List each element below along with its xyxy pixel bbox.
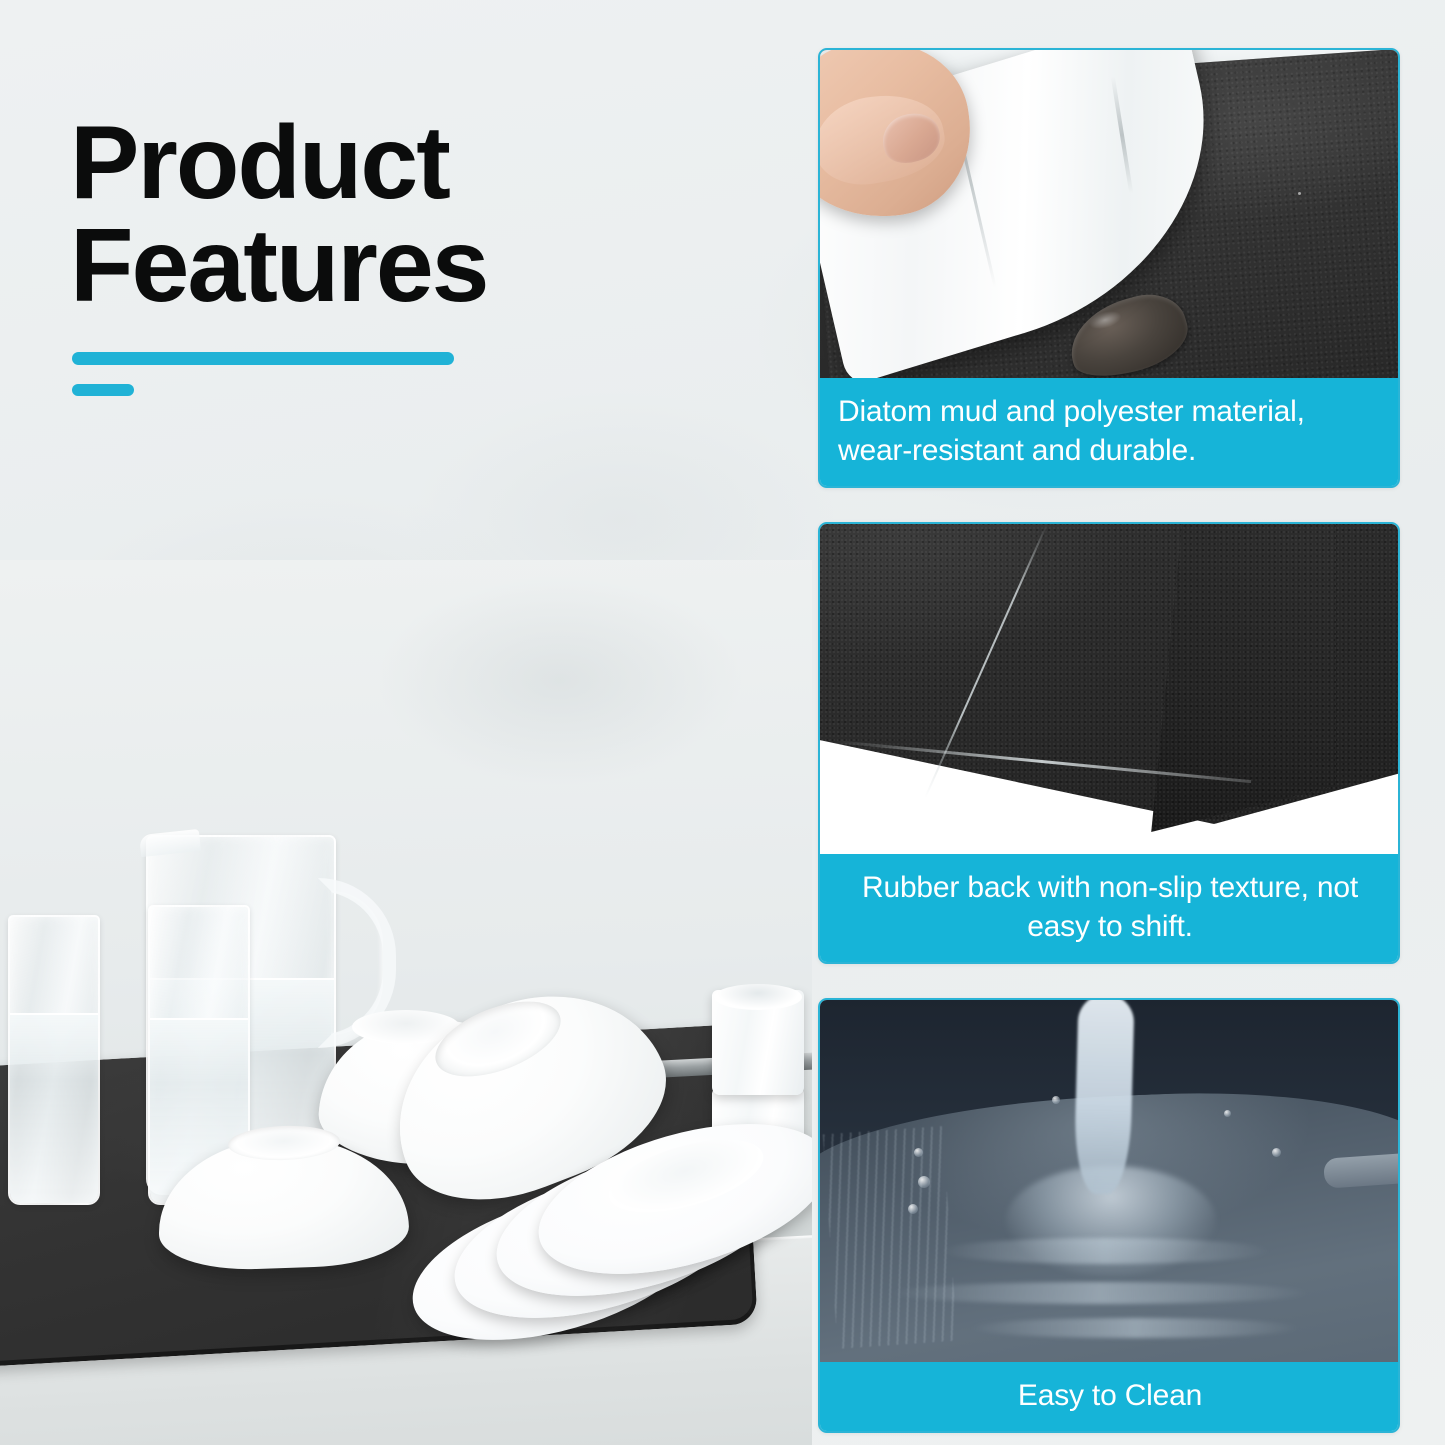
feature-panel-easy-clean: Easy to Clean xyxy=(818,998,1400,1433)
water-bead xyxy=(1052,1096,1060,1104)
product-features-infographic: ProductFeatures xyxy=(0,0,1445,1445)
page-title: ProductFeatures xyxy=(70,112,710,318)
water-bead xyxy=(918,1176,930,1188)
headline-text: ProductFeatures xyxy=(70,112,710,318)
rubber-back-photo xyxy=(820,524,1398,854)
title-accent-rules xyxy=(72,352,454,396)
easy-clean-photo xyxy=(820,1000,1398,1362)
headline-line-1: Product xyxy=(70,105,449,221)
water-bead xyxy=(1224,1110,1231,1117)
water-ripple xyxy=(970,1318,1300,1338)
surface-speck xyxy=(1298,192,1301,195)
material-photo xyxy=(820,50,1398,378)
mat-wet-texture xyxy=(823,1126,958,1349)
headline-line-2: Features xyxy=(70,208,488,324)
feature-panel-material: Diatom mud and polyester material, wear-… xyxy=(818,48,1400,488)
panel-caption-easy-clean: Easy to Clean xyxy=(820,1362,1398,1431)
accent-rule-long xyxy=(72,352,454,365)
feature-panel-list: Diatom mud and polyester material, wear-… xyxy=(818,48,1400,1433)
sink-rim xyxy=(1323,1153,1398,1189)
water-bead xyxy=(1272,1148,1281,1157)
water-level xyxy=(10,1013,98,1203)
panel-caption-material: Diatom mud and polyester material, wear-… xyxy=(820,378,1398,486)
water-bead xyxy=(908,1204,918,1214)
water-bead xyxy=(914,1148,923,1157)
product-scene-photo xyxy=(0,560,812,1445)
ramekin-rim xyxy=(714,984,802,1010)
water-glass-left xyxy=(8,915,100,1205)
water-ripple xyxy=(940,1238,1270,1264)
panel-caption-rubber-back: Rubber back with non-slip texture, not e… xyxy=(820,854,1398,962)
accent-rule-short xyxy=(72,384,134,396)
feature-panel-rubber-back: Rubber back with non-slip texture, not e… xyxy=(818,522,1400,964)
water-ripple xyxy=(890,1282,1310,1304)
